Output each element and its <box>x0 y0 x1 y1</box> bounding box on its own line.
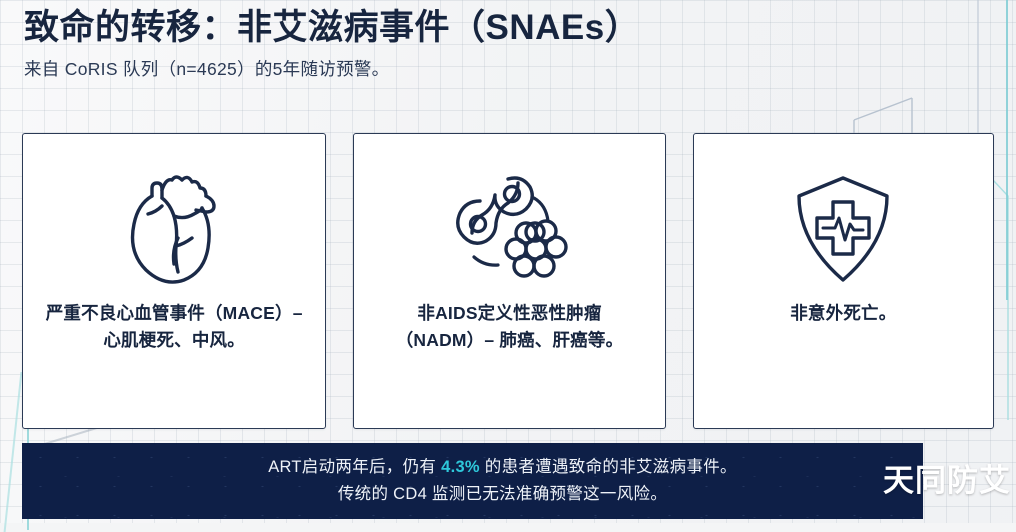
banner-line1-after: 的患者遭遇致命的非艾滋病事件。 <box>480 458 737 476</box>
card-nadm: 非AIDS定义性恶性肿瘤（NADM）– 肺癌、肝癌等。 <box>353 133 665 429</box>
footer-banner-text: ART启动两年后，仍有 4.3% 的患者遭遇致命的非艾滋病事件。 传统的 CD4… <box>208 454 737 507</box>
decor-teal-line-left-secondary <box>4 372 23 532</box>
banner-highlight-percentage: 4.3% <box>441 458 480 476</box>
decor-teal-line-right <box>1006 0 1008 300</box>
anatomical-heart-icon <box>122 162 226 296</box>
card-mace: 严重不良心血管事件（MACE）– 心肌梗死、中风。 <box>22 133 326 429</box>
card-mace-label: 严重不良心血管事件（MACE）– 心肌梗死、中风。 <box>23 300 325 354</box>
header: 致命的转移：非艾滋病事件（SNAEs） 来自 CoRIS 队列（n=4625）的… <box>24 8 640 81</box>
card-non-accidental-death-label: 非意外死亡。 <box>768 300 918 327</box>
page-subtitle: 来自 CoRIS 队列（n=4625）的5年随访预警。 <box>24 56 640 81</box>
banner-line2: 传统的 CD4 监测已无法准确预警这一风险。 <box>338 485 667 503</box>
page-title: 致命的转移：非艾滋病事件（SNAEs） <box>24 8 640 47</box>
card-non-accidental-death: 非意外死亡。 <box>693 133 994 429</box>
footer-banner: ART启动两年后，仍有 4.3% 的患者遭遇致命的非艾滋病事件。 传统的 CD4… <box>22 443 923 519</box>
dividing-cells-tumor-icon <box>446 162 572 296</box>
watermark: 天同防艾 <box>883 455 1011 500</box>
snae-card-row: 严重不良心血管事件（MACE）– 心肌梗死、中风。 非AIDS定义性恶性肿瘤（ <box>22 133 994 429</box>
shield-medical-cross-icon <box>791 162 895 296</box>
banner-line1-before: ART启动两年后，仍有 <box>268 458 441 476</box>
card-nadm-label: 非AIDS定义性恶性肿瘤（NADM）– 肺癌、肝癌等。 <box>354 300 664 354</box>
